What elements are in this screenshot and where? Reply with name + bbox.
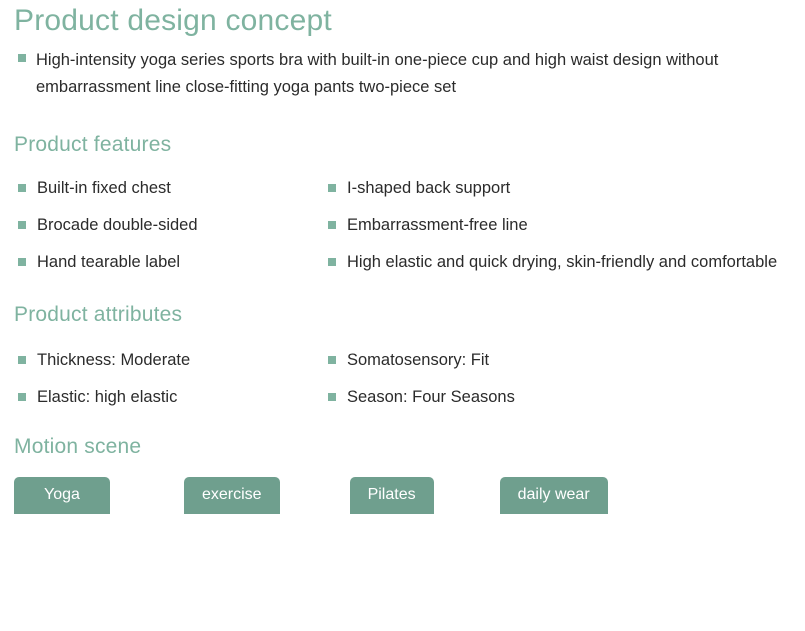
square-bullet-icon bbox=[18, 221, 26, 229]
attribute-label: Somatosensory: Fit bbox=[347, 351, 489, 371]
feature-item: Built-in fixed chest bbox=[18, 179, 328, 199]
attribute-item: Season: Four Seasons bbox=[328, 388, 799, 408]
attribute-label: Thickness: Moderate bbox=[37, 351, 190, 371]
product-info-page: Product design concept High-intensity yo… bbox=[0, 0, 805, 631]
feature-item: Brocade double-sided bbox=[18, 216, 328, 236]
attributes-grid: Thickness: Moderate Somatosensory: Fit E… bbox=[6, 351, 799, 408]
section-title-features: Product features bbox=[6, 133, 799, 157]
square-bullet-icon bbox=[328, 184, 336, 192]
motion-tag-yoga[interactable]: Yoga bbox=[14, 477, 110, 514]
section-title-motion: Motion scene bbox=[6, 435, 799, 459]
feature-label: Built-in fixed chest bbox=[37, 179, 171, 199]
section-title-attributes: Product attributes bbox=[6, 303, 799, 327]
feature-item: High elastic and quick drying, skin-frie… bbox=[328, 253, 799, 273]
feature-label: Hand tearable label bbox=[37, 253, 180, 273]
square-bullet-icon bbox=[18, 54, 26, 62]
square-bullet-icon bbox=[328, 393, 336, 401]
page-title: Product design concept bbox=[6, 0, 799, 37]
attribute-item: Elastic: high elastic bbox=[18, 388, 328, 408]
motion-tag-daily-wear[interactable]: daily wear bbox=[500, 477, 608, 514]
attribute-item: Thickness: Moderate bbox=[18, 351, 328, 371]
square-bullet-icon bbox=[328, 356, 336, 364]
square-bullet-icon bbox=[328, 258, 336, 266]
product-description: High-intensity yoga series sports bra wi… bbox=[6, 47, 799, 101]
square-bullet-icon bbox=[18, 184, 26, 192]
feature-item: I-shaped back support bbox=[328, 179, 799, 199]
motion-scene-tags: Yoga exercise Pilates daily wear bbox=[6, 477, 799, 514]
square-bullet-icon bbox=[18, 258, 26, 266]
square-bullet-icon bbox=[18, 356, 26, 364]
description-bullet-row: High-intensity yoga series sports bra wi… bbox=[18, 47, 799, 101]
attribute-item: Somatosensory: Fit bbox=[328, 351, 799, 371]
motion-tag-pilates[interactable]: Pilates bbox=[350, 477, 434, 514]
square-bullet-icon bbox=[328, 221, 336, 229]
square-bullet-icon bbox=[18, 393, 26, 401]
feature-item: Hand tearable label bbox=[18, 253, 328, 273]
features-grid: Built-in fixed chest I-shaped back suppo… bbox=[6, 179, 799, 272]
feature-item: Embarrassment-free line bbox=[328, 216, 799, 236]
attribute-label: Season: Four Seasons bbox=[347, 388, 515, 408]
feature-label: I-shaped back support bbox=[347, 179, 510, 199]
feature-label: Embarrassment-free line bbox=[347, 216, 528, 236]
feature-label: Brocade double-sided bbox=[37, 216, 198, 236]
description-text: High-intensity yoga series sports bra wi… bbox=[36, 47, 799, 101]
feature-label: High elastic and quick drying, skin-frie… bbox=[347, 253, 777, 273]
attribute-label: Elastic: high elastic bbox=[37, 388, 177, 408]
motion-tag-exercise[interactable]: exercise bbox=[184, 477, 280, 514]
